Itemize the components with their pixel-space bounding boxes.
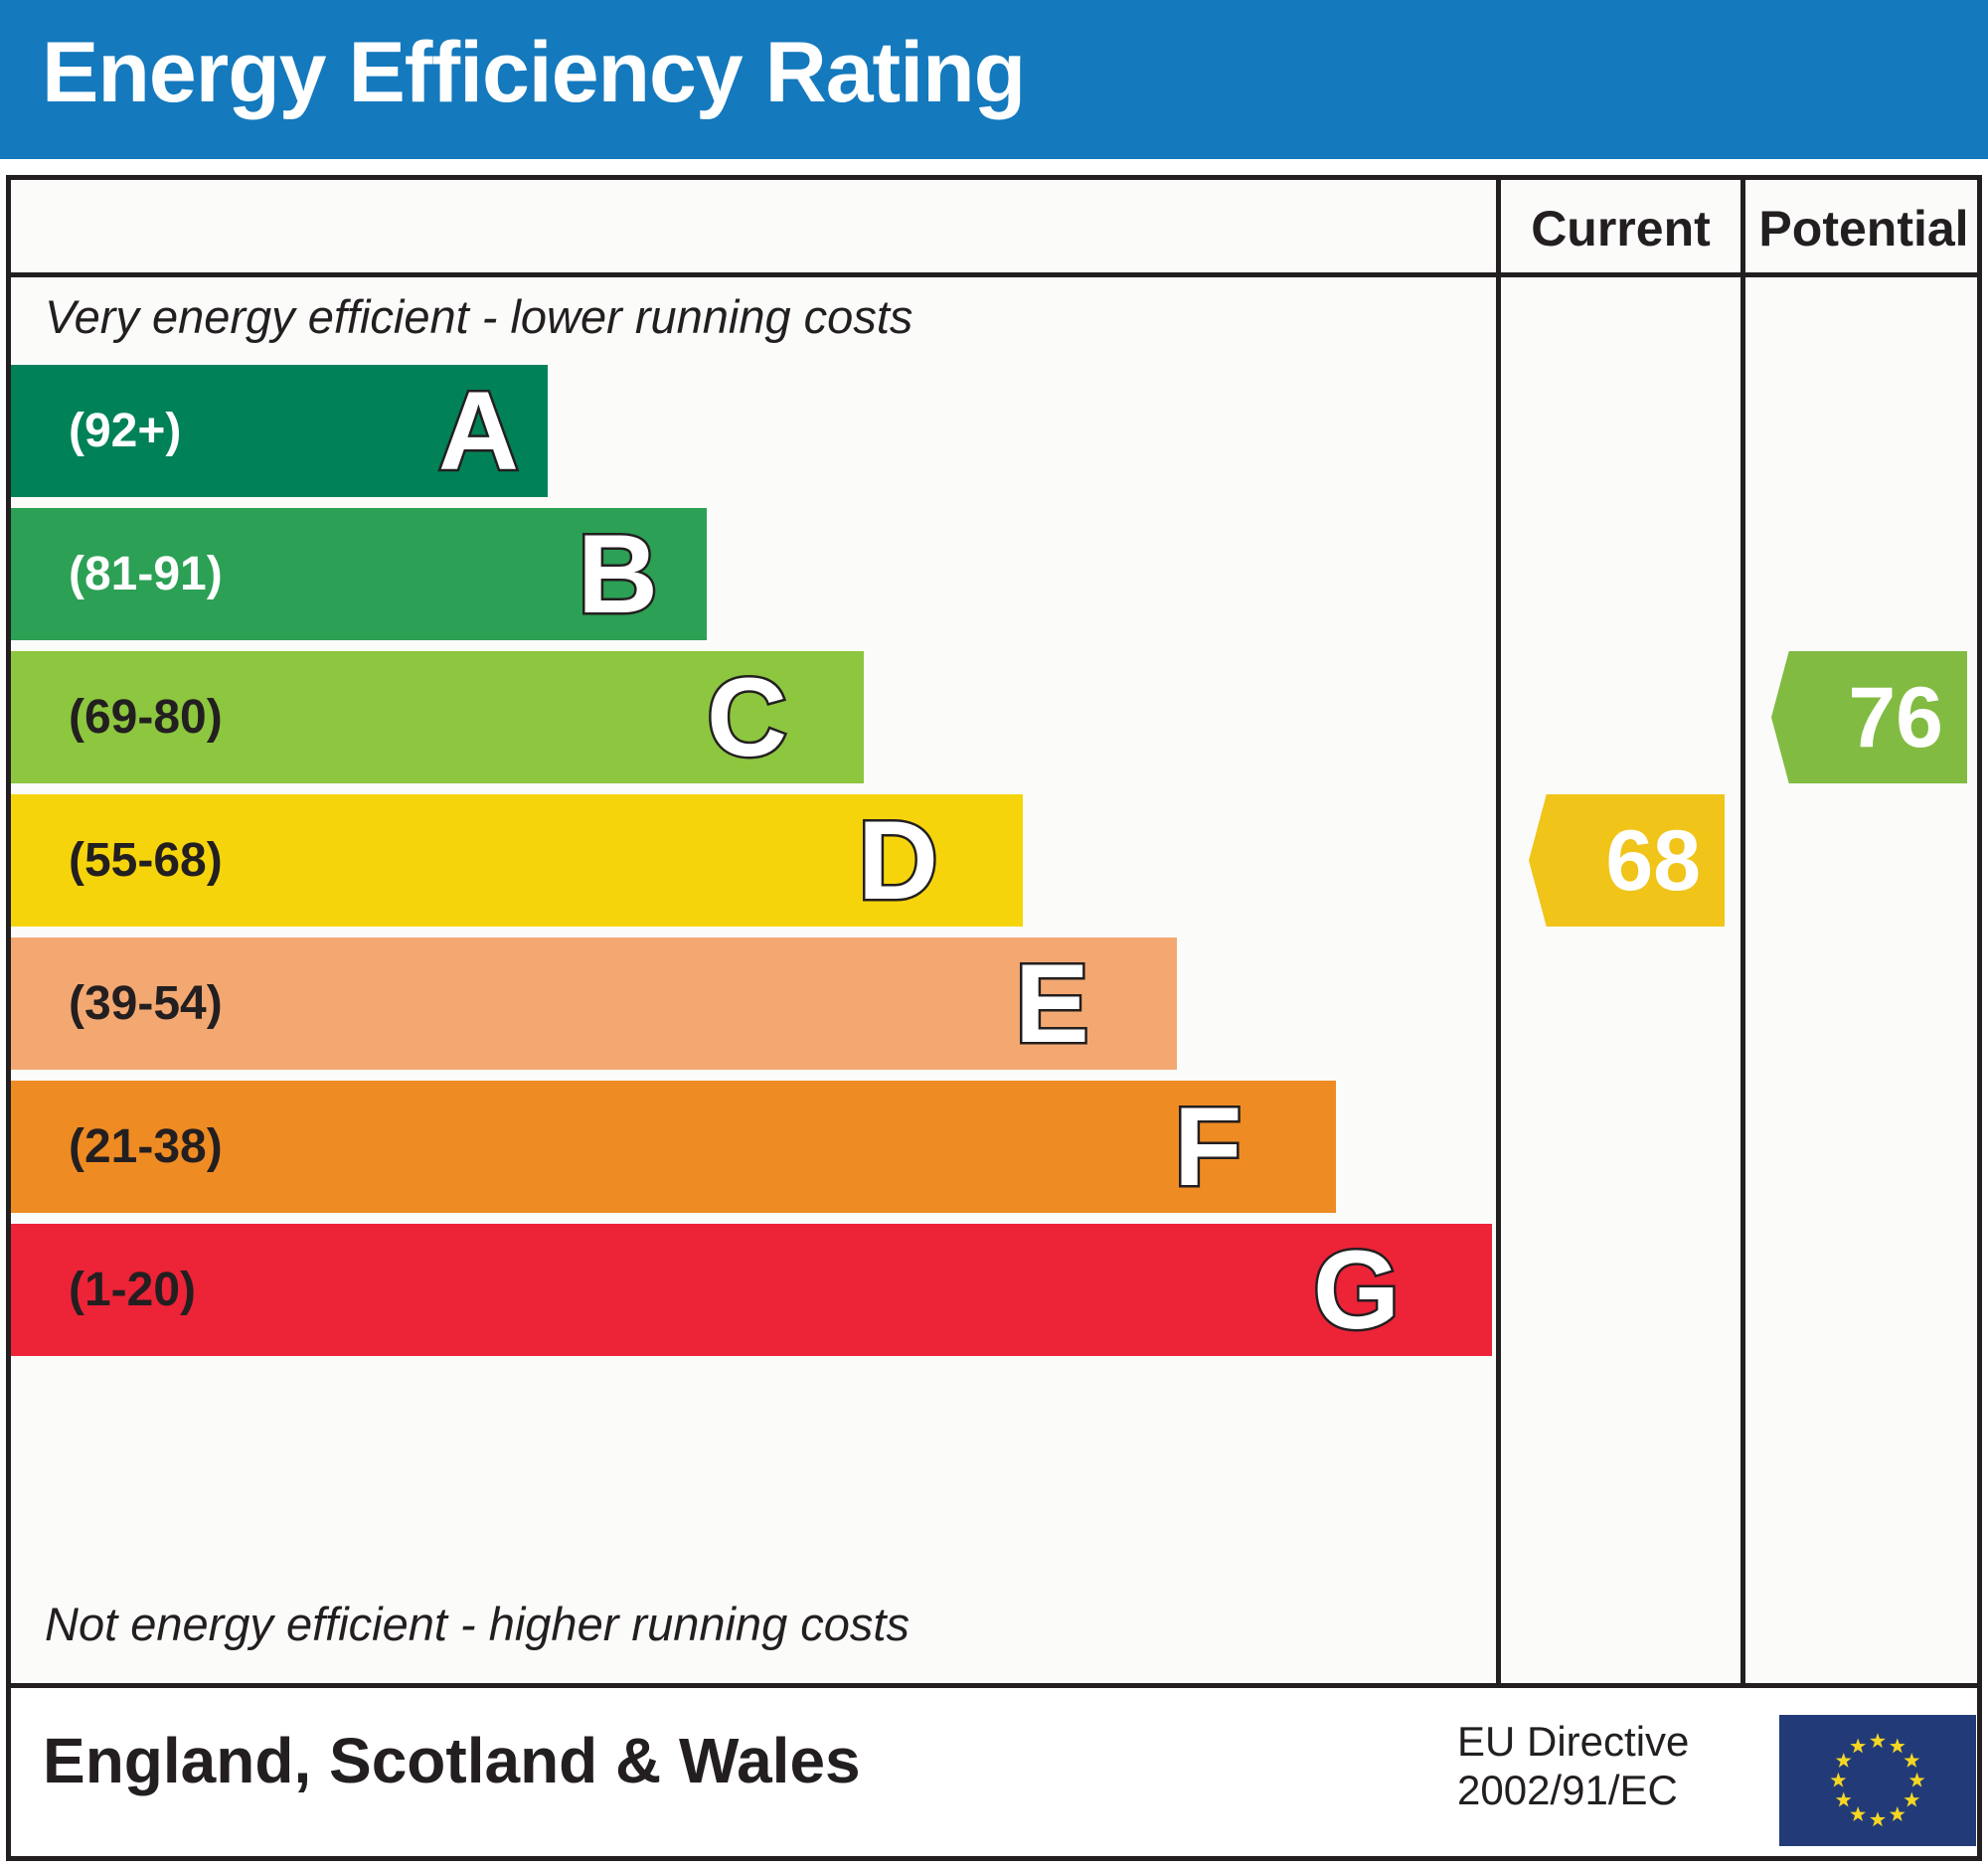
energy-efficiency-certificate: Energy Efficiency Rating Current Potenti… (0, 0, 1988, 1867)
rating-band-e: (39-54)E (11, 937, 1177, 1070)
band-letter-e: E (1015, 948, 1089, 1060)
column-divider-current (1496, 277, 1501, 1688)
band-letter-d: D (858, 805, 938, 917)
rating-band-d: (55-68)D (11, 794, 1023, 927)
chart-frame: Current Potential Very energy efficient … (6, 175, 1982, 1688)
potential-rating-pointer: 76 (1771, 651, 1967, 783)
title-bar: Energy Efficiency Rating (0, 0, 1988, 159)
rating-band-a: (92+)A (11, 365, 548, 497)
band-range-label: (1-20) (69, 1263, 196, 1317)
band-range-label: (81-91) (69, 547, 223, 601)
footer: England, Scotland & Wales EU Directive 2… (6, 1688, 1982, 1861)
band-letter-b: B (578, 519, 658, 630)
directive-line-1: EU Directive (1457, 1718, 1689, 1767)
directive-line-2: 2002/91/EC (1457, 1767, 1689, 1815)
caption-efficient: Very energy efficient - lower running co… (45, 289, 912, 344)
rating-band-c: (69-80)C (11, 651, 864, 783)
band-range-label: (39-54) (69, 976, 223, 1031)
column-header-current: Current (1496, 180, 1740, 277)
band-range-label: (69-80) (69, 690, 223, 745)
band-letter-a: A (438, 376, 519, 487)
rating-band-list: (92+)A(81-91)B(69-80)C(55-68)D(39-54)E(2… (11, 365, 1496, 1367)
page-title: Energy Efficiency Rating (42, 24, 1025, 122)
footer-directive: EU Directive 2002/91/EC (1457, 1718, 1689, 1814)
column-divider-potential (1740, 277, 1745, 1688)
band-range-label: (21-38) (69, 1119, 223, 1174)
band-letter-c: C (707, 662, 787, 773)
current-rating-value: 68 (1605, 818, 1725, 904)
table-header-row: Current Potential (11, 180, 1977, 277)
band-range-label: (55-68) (69, 833, 223, 888)
potential-rating-value: 76 (1848, 675, 1967, 761)
chart-body: Very energy efficient - lower running co… (11, 277, 1496, 1688)
current-rating-pointer: 68 (1529, 794, 1725, 927)
band-letter-f: F (1174, 1092, 1242, 1203)
eu-flag-icon (1778, 1714, 1977, 1847)
footer-region-label: England, Scotland & Wales (43, 1724, 861, 1797)
band-letter-g: G (1313, 1235, 1400, 1346)
band-range-label: (92+) (69, 404, 181, 458)
column-header-potential: Potential (1740, 180, 1982, 277)
rating-band-g: (1-20)G (11, 1224, 1492, 1356)
rating-band-f: (21-38)F (11, 1081, 1336, 1213)
rating-band-b: (81-91)B (11, 508, 707, 640)
caption-inefficient: Not energy efficient - higher running co… (45, 1597, 910, 1651)
